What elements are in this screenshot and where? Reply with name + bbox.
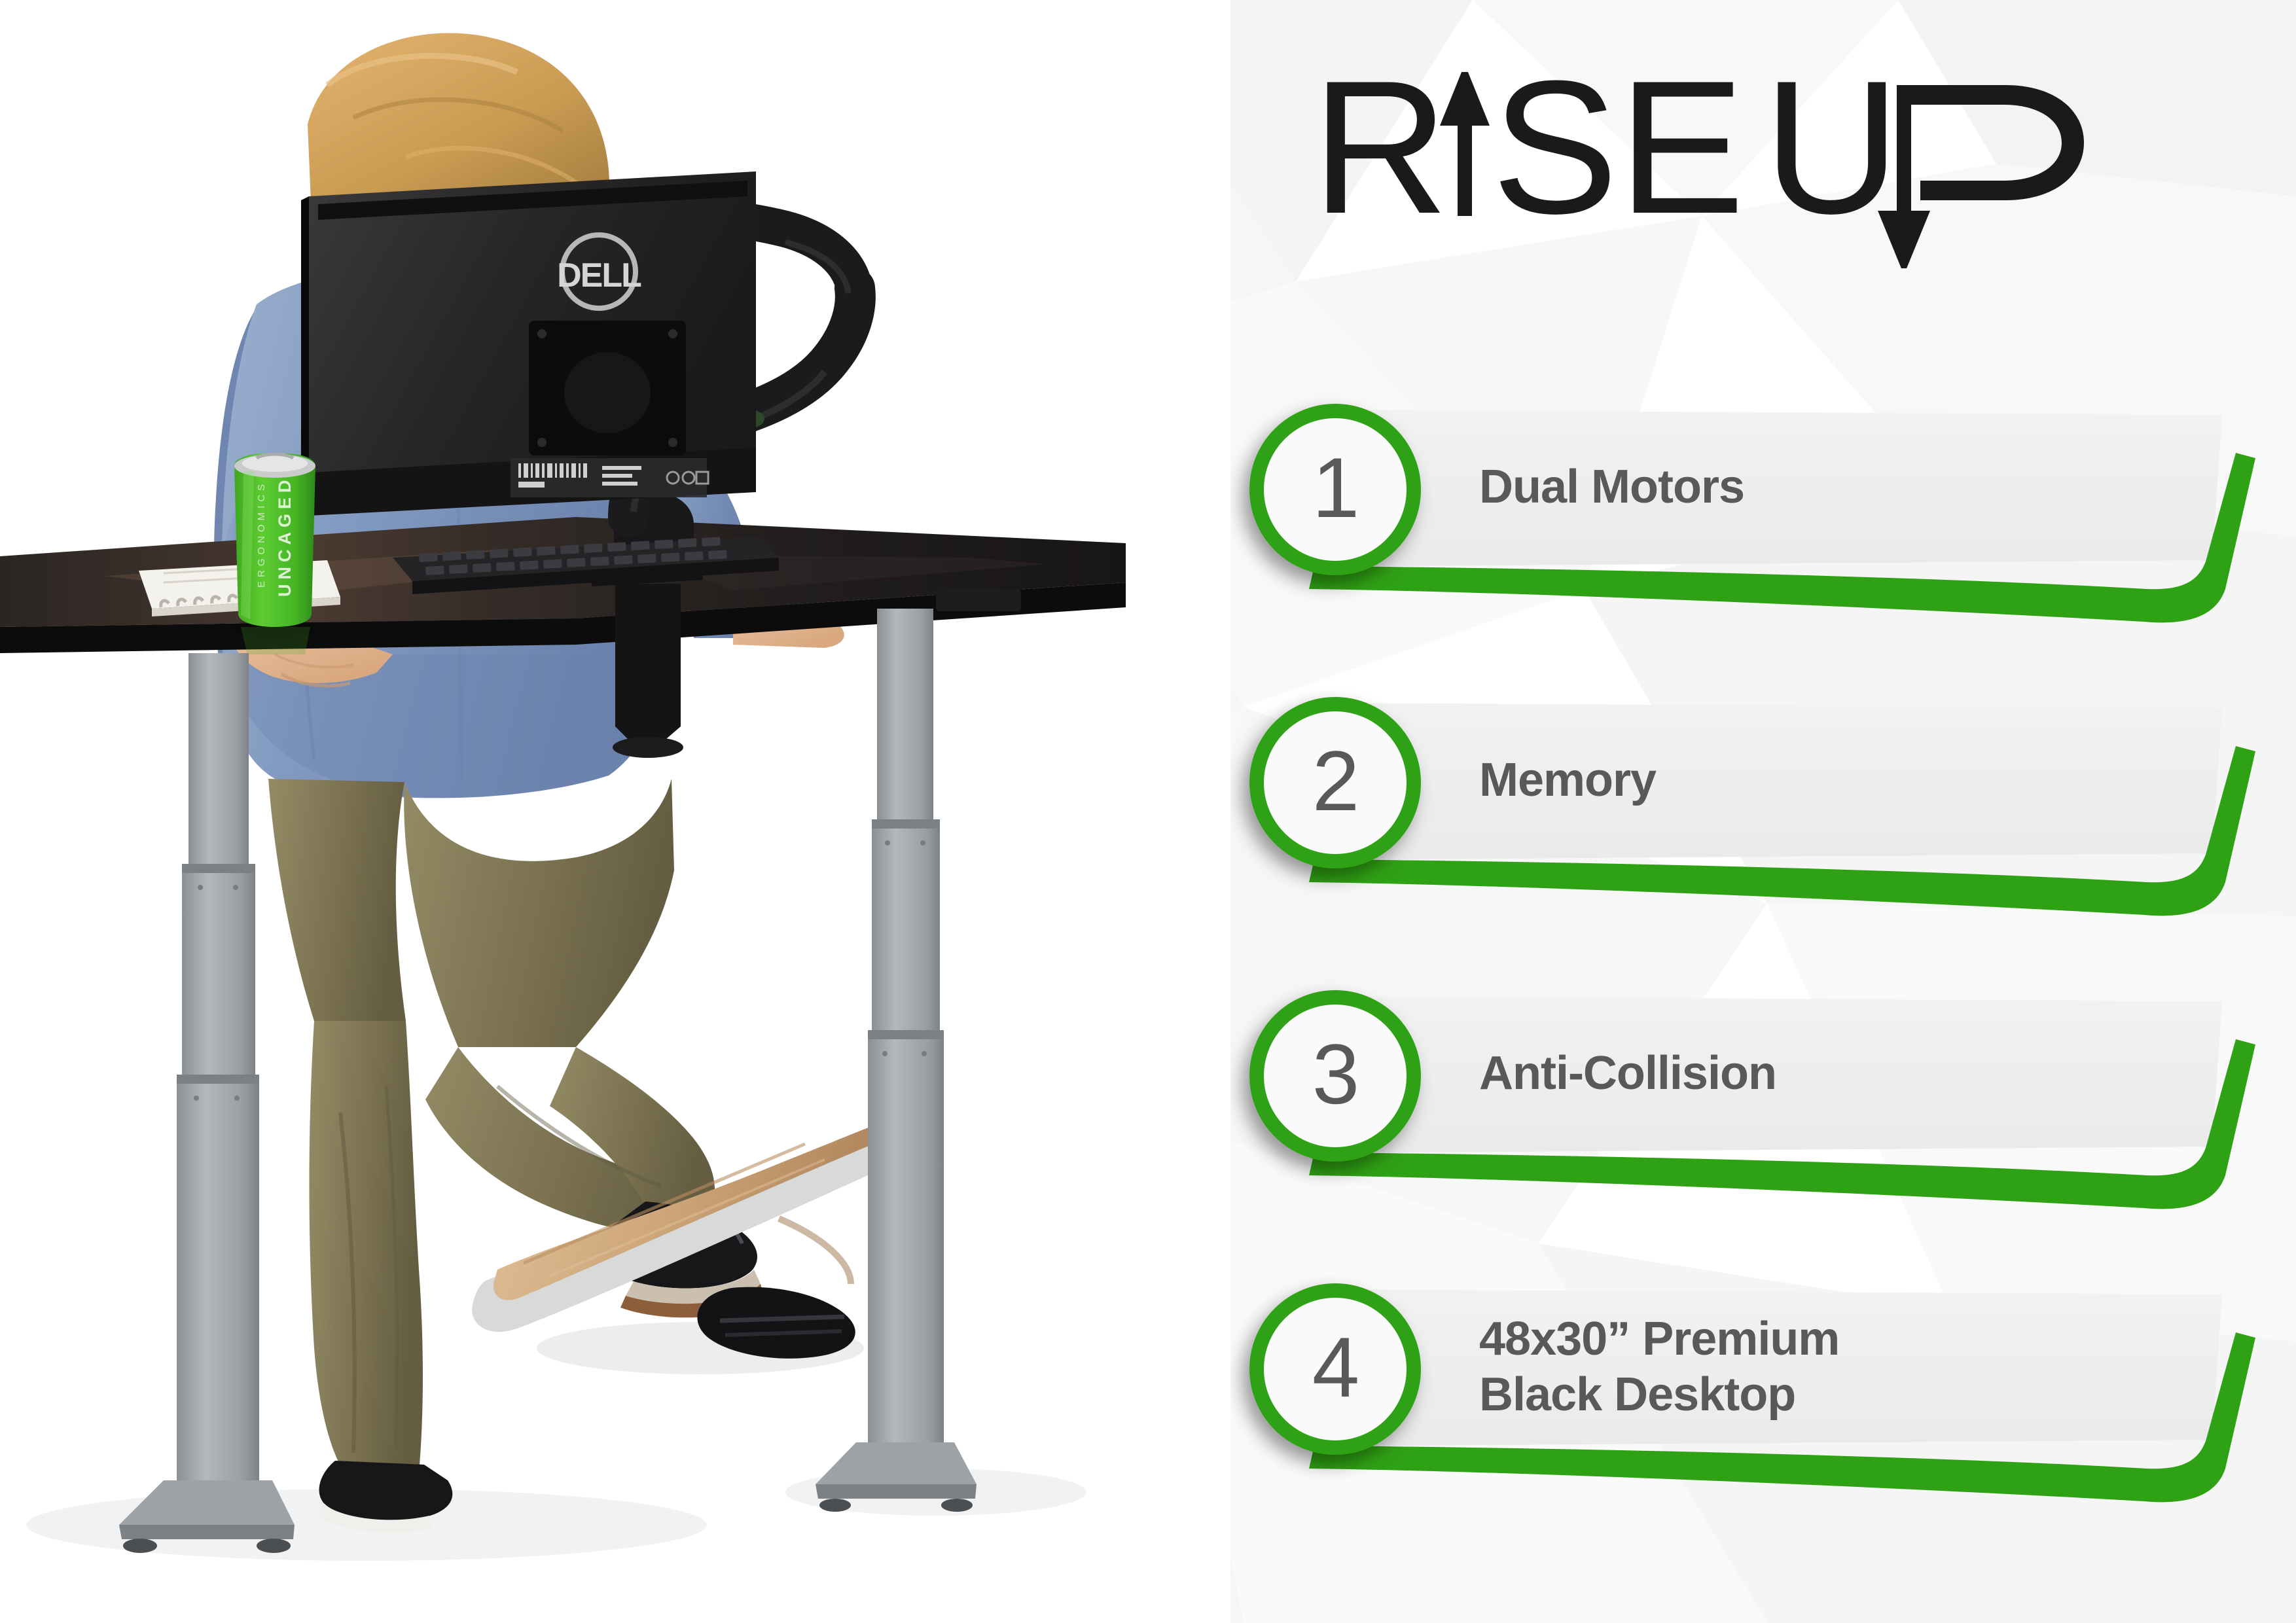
feature-number-circle	[1257, 997, 1414, 1154]
feature-label: 48x30” Premium Black Desktop	[1479, 1311, 1839, 1423]
feature-row-3[interactable]: 3 Anti-Collision	[1230, 979, 2296, 1260]
tumbler-brand-primary: UNCAGED	[275, 475, 295, 597]
feature-row-2[interactable]: 2 Memory	[1230, 686, 2296, 967]
feature-number-circle	[1257, 704, 1414, 861]
headline-letter-R: R	[1312, 72, 1448, 253]
feature-row-1[interactable]: 1 Dual Motors	[1230, 393, 2296, 674]
feature-label: Memory	[1479, 753, 1656, 808]
svg-text:DELL: DELL	[557, 257, 641, 294]
feature-number-circle	[1257, 411, 1414, 568]
standing-desk-photo: DELL	[0, 0, 1230, 1623]
tumbler-brand-secondary: ERGONOMICS	[256, 480, 267, 588]
feature-number-circle	[1257, 1291, 1414, 1448]
feature-panel	[1323, 703, 2222, 860]
headline-rise-up: R SE U	[1230, 72, 2296, 334]
feature-panel	[1323, 410, 2222, 567]
headline-letter-U: U	[1763, 72, 1900, 253]
feature-row-4[interactable]: 4 48x30” Premium Black Desktop	[1230, 1272, 2296, 1554]
headline-letters-SE: SE	[1492, 72, 1745, 253]
uncaged-tumbler: UNCAGED ERGONOMICS	[232, 453, 318, 639]
feature-label: Dual Motors	[1479, 459, 1744, 515]
content-column: R SE U	[1230, 0, 2296, 1623]
feature-label: Anti-Collision	[1479, 1046, 1776, 1101]
headline-letter-P	[1904, 85, 2084, 200]
